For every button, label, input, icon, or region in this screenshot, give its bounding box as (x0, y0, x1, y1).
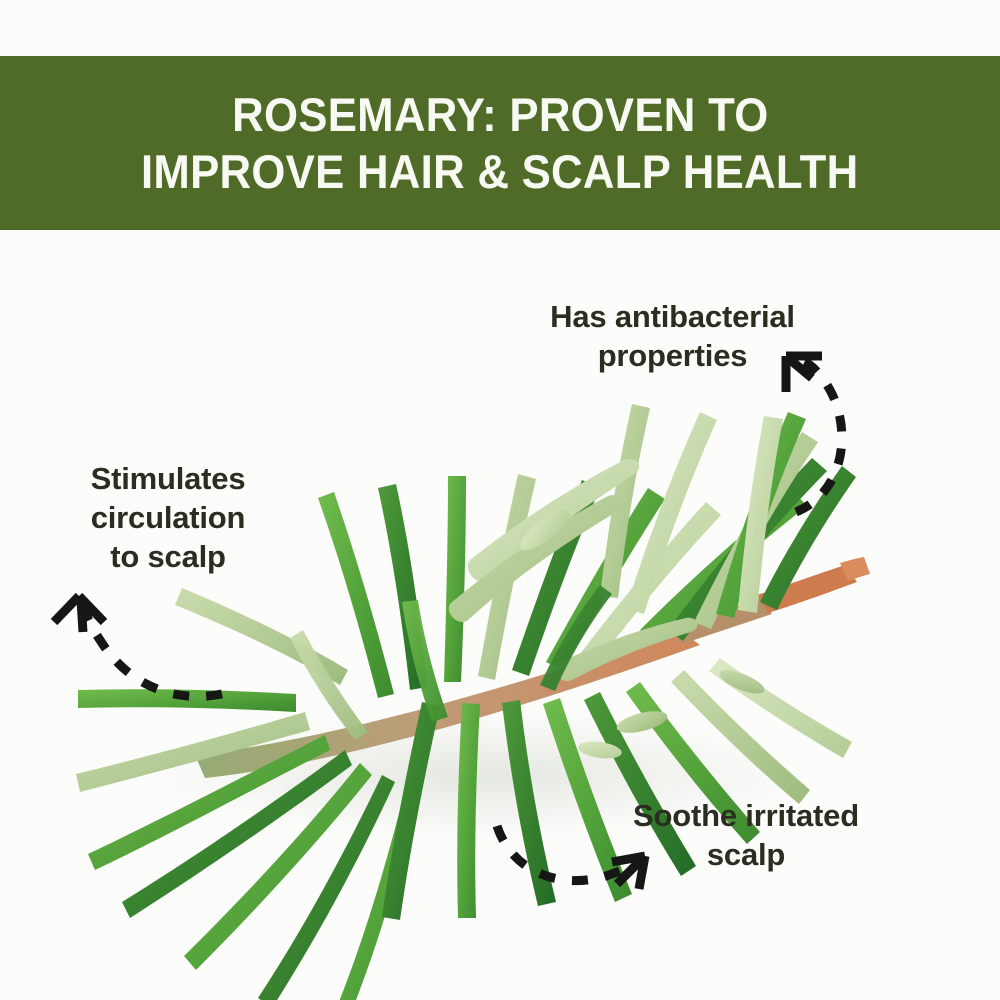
annotation-circulation: Stimulates circulation to scalp (48, 460, 288, 576)
header-band: ROSEMARY: PROVEN TO IMPROVE HAIR & SCALP… (0, 56, 1000, 230)
page-title-line-2: IMPROVE HAIR & SCALP HEALTH (141, 143, 858, 200)
annotation-soothe: Soothe irritated scalp (600, 797, 892, 875)
infographic-canvas: ROSEMARY: PROVEN TO IMPROVE HAIR & SCALP… (0, 0, 1000, 1000)
page-title-line-1: ROSEMARY: PROVEN TO (232, 86, 768, 143)
annotation-antibacterial: Has antibacterial properties (500, 298, 845, 376)
